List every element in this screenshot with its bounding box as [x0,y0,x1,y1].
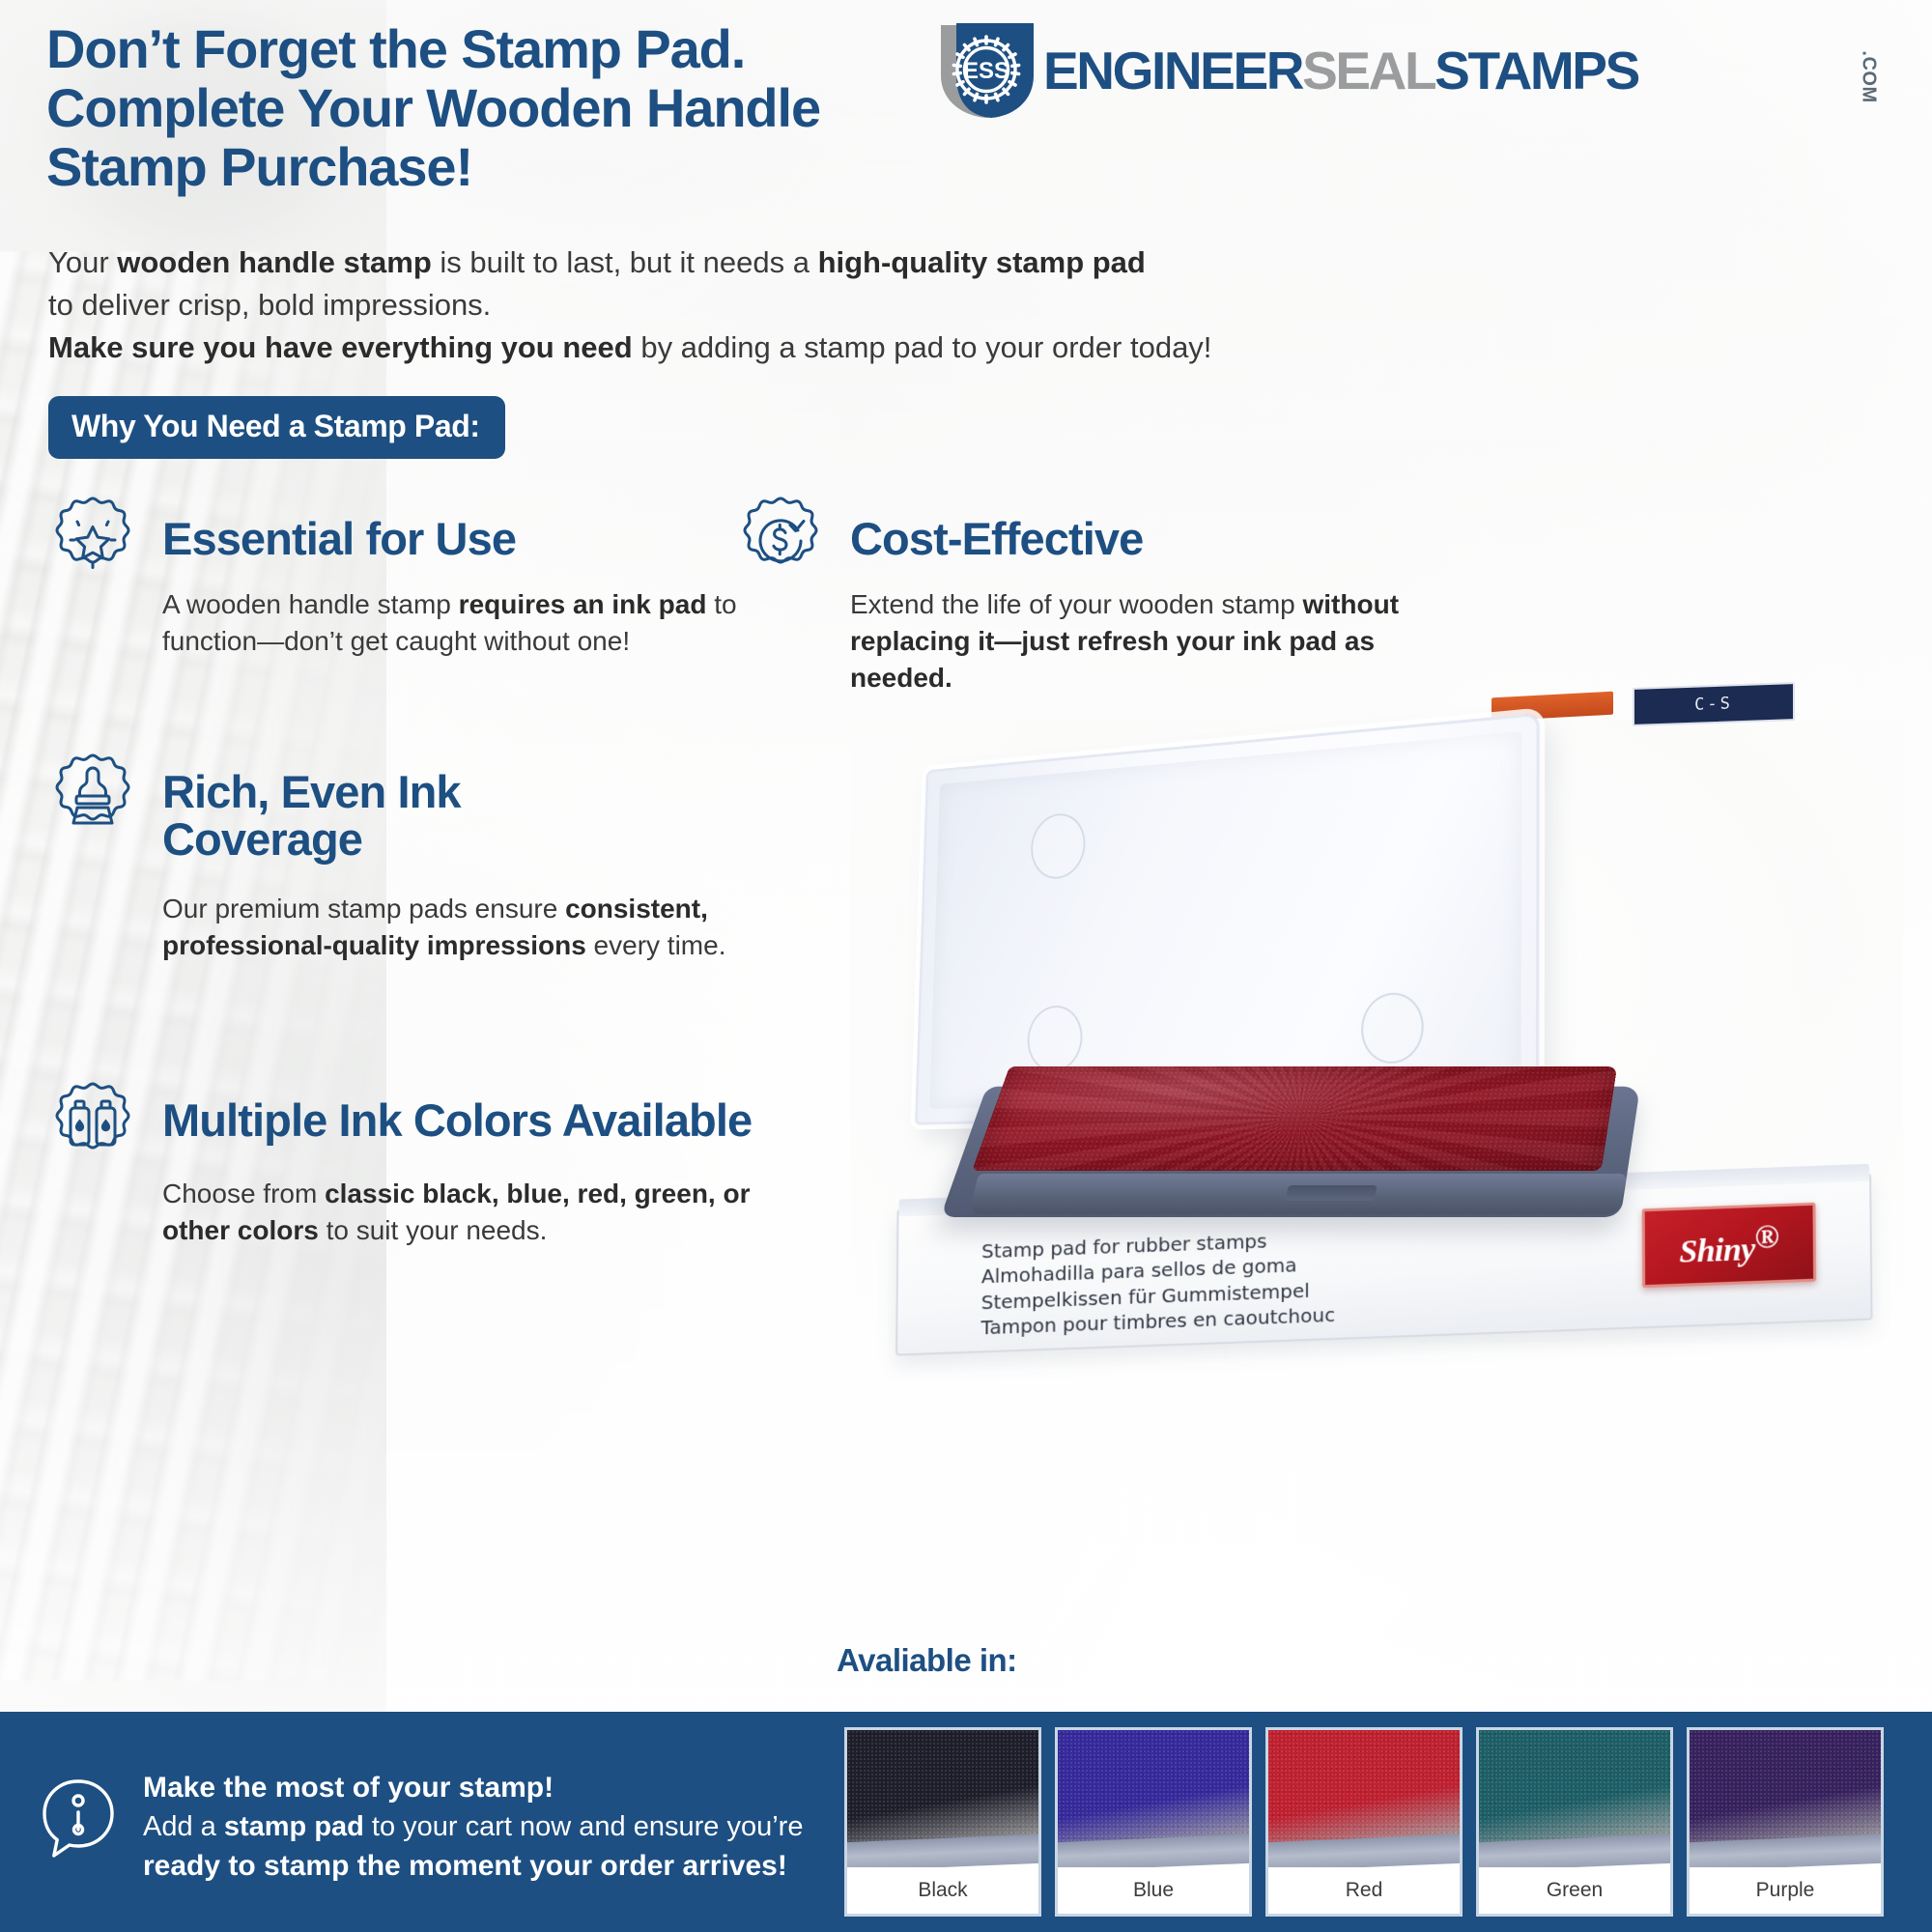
swatch-caption: Red [1268,1867,1460,1914]
intro-line-3: Make sure you have everything you need b… [48,327,1401,369]
logo-tld: .COM [1855,44,1882,108]
swatch-ink-surface [1690,1730,1881,1844]
swatch-photo [847,1730,1038,1867]
swatch-photo [1268,1730,1460,1867]
logo-word-engineer: ENGINEER [1043,41,1302,100]
shiny-brand-logo: Shiny® [1642,1203,1816,1288]
swatch-label: Blue [1133,1879,1174,1902]
product-box-multilingual-text: Stamp pad for rubber stamps Almohadilla … [980,1226,1335,1341]
color-swatch-green[interactable]: Green [1476,1727,1673,1917]
swatch-photo [1479,1730,1670,1867]
feature-body: Extend the life of your wooden stamp wit… [850,586,1478,696]
color-swatch-blue[interactable]: Blue [1055,1727,1252,1917]
color-swatch-red[interactable]: Red [1265,1727,1463,1917]
intro-line-2: to deliver crisp, bold impressions. [48,284,1401,327]
badge-dollar-check-icon [734,495,827,587]
footer-cta-band: Make the most of your stamp! Add a stamp… [0,1712,829,1932]
stamp-pad-ink-surface [972,1066,1617,1171]
feature-body: A wooden handle stamp requires an ink pa… [162,586,752,660]
available-in-label: Avaliable in: [837,1642,1017,1679]
feature-cost-effective: Cost-Effective Extend the life of your w… [734,495,1391,696]
swatch-ink-surface [1479,1730,1670,1844]
headline-line-1: Don’t Forget the Stamp Pad. [46,19,1012,78]
headline-line-2: Complete Your Wooden Handle [46,78,1012,137]
swatch-caption: Blue [1058,1867,1249,1914]
ess-shield-icon: ESS [935,19,1037,120]
footer-line-1: Make the most of your stamp! [143,1768,819,1807]
feature-title: Cost-Effective [850,495,1391,563]
swatch-caption: Black [847,1867,1038,1914]
swatch-caption: Green [1479,1867,1670,1914]
footer-cta-text: Make the most of your stamp! Add a stamp… [143,1768,819,1887]
color-swatch-band: BlackBlueRedGreenPurple [829,1712,1932,1932]
feature-multiple-ink-colors: Multiple Ink Colors Available Choose fro… [46,1080,819,1249]
intro-line-1: Your wooden handle stamp is built to las… [48,241,1401,284]
stamp-pad-lid [915,713,1540,1125]
headline-line-3: Stamp Purchase! [46,137,1012,196]
swatch-label: Black [918,1879,967,1902]
section-badge-why-you-need: Why You Need a Stamp Pad: [48,396,505,459]
feature-title: Essential for Use [162,495,761,563]
feature-body: Choose from classic black, blue, red, gr… [162,1176,819,1249]
swatch-label: Purple [1756,1879,1815,1902]
swatch-ink-surface [847,1730,1038,1844]
feature-rich-even-ink-coverage: Rich, Even Ink Coverage Our premium stam… [46,752,761,964]
brand-logo[interactable]: ESS ENGINEERSEALSTAMPS .COM [935,19,1911,120]
color-swatch-black[interactable]: Black [844,1727,1041,1917]
infographic-page: Don’t Forget the Stamp Pad. Complete You… [0,0,1932,1932]
footer-line-3: ready to stamp the moment your order arr… [143,1846,819,1886]
logo-wordmark: ENGINEERSEALSTAMPS [1043,44,1638,98]
stamp-pad-notch [1285,1185,1378,1201]
logo-mark-label: ESS [963,58,1009,84]
logo-word-stamps: STAMPS [1435,41,1638,100]
color-swatch-purple[interactable]: Purple [1687,1727,1884,1917]
feature-essential-for-use: Essential for Use A wooden handle stamp … [46,495,761,660]
feature-body: Our premium stamp pads ensure consistent… [162,891,742,964]
page-title: Don’t Forget the Stamp Pad. Complete You… [46,19,1012,196]
footer-line-2: Add a stamp pad to your cart now and ens… [143,1807,819,1846]
swatch-label: Green [1547,1879,1603,1902]
badge-rubber-stamp-icon [46,752,139,844]
badge-ink-bottles-icon [46,1080,139,1173]
logo-word-seal: SEAL [1302,41,1435,100]
box-size-tag: C-S [1633,682,1795,726]
swatch-photo [1058,1730,1249,1867]
swatch-ink-surface [1058,1730,1249,1844]
swatch-ink-surface [1268,1730,1460,1844]
swatch-caption: Purple [1690,1867,1881,1914]
info-bubble-icon [37,1776,120,1862]
intro-paragraph: Your wooden handle stamp is built to las… [48,241,1401,369]
feature-title: Rich, Even Ink Coverage [162,752,665,864]
product-photo-stamp-pad: Stamp pad for rubber stamps Almohadilla … [850,720,1903,1343]
swatch-photo [1690,1730,1881,1867]
feature-title: Multiple Ink Colors Available [162,1080,761,1145]
swatch-label: Red [1346,1879,1383,1902]
badge-star-icon [46,495,139,587]
